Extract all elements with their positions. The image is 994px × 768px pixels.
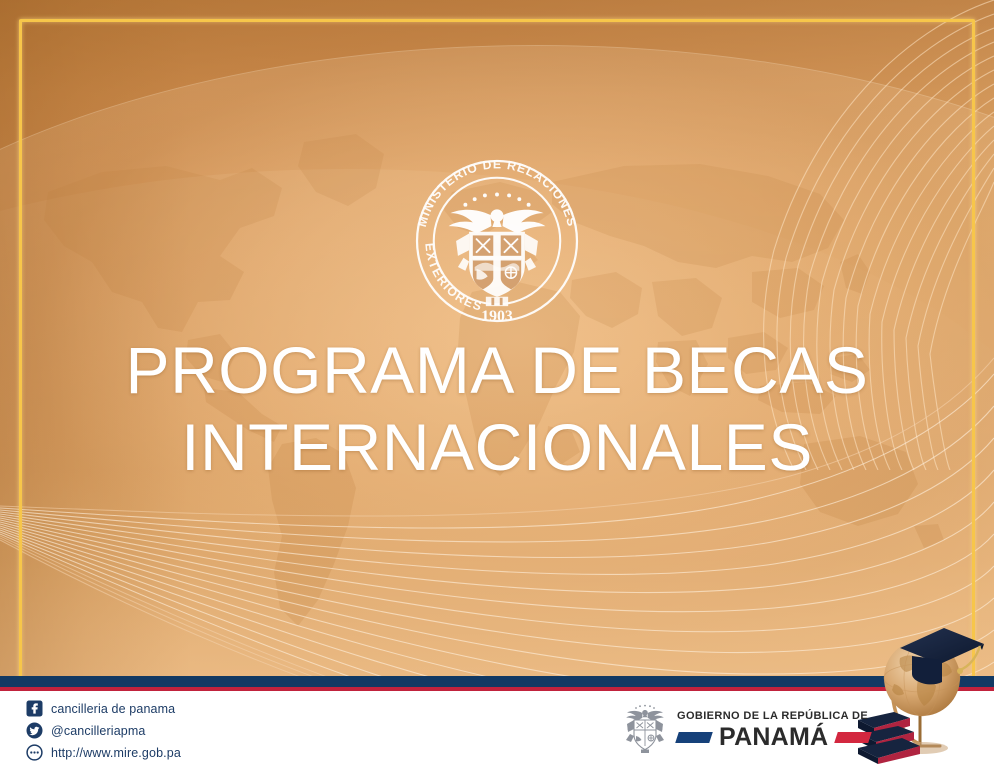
- globe-graduation-cap-books-graphic: [856, 600, 988, 766]
- social-link-twitter[interactable]: @cancilleriapma: [26, 720, 181, 741]
- website-label: http://www.mire.gob.pa: [51, 746, 181, 760]
- government-logo: GOBIERNO DE LA REPÚBLICA DE PANAMÁ: [622, 702, 870, 754]
- government-logo-line2: PANAMÁ: [677, 725, 870, 750]
- facebook-label: cancilleria de panama: [51, 702, 175, 716]
- social-link-facebook[interactable]: cancilleria de panama: [26, 698, 181, 719]
- graduation-cap: [900, 628, 984, 684]
- social-links: cancilleria de panama @cancilleriapma: [26, 698, 181, 764]
- website-icon: [26, 744, 43, 761]
- government-logo-panama: PANAMÁ: [719, 725, 828, 750]
- navy-stripe: [0, 676, 994, 687]
- government-logo-text: GOBIERNO DE LA REPÚBLICA DE PANAMÁ: [677, 706, 870, 750]
- poster-canvas: MINISTERIO DE RELACIONES EXTERIORES: [0, 0, 994, 768]
- seal-year: 1903: [481, 308, 513, 325]
- government-logo-line1: GOBIERNO DE LA REPÚBLICA DE: [677, 710, 868, 722]
- red-stripe: [0, 687, 994, 691]
- social-link-website[interactable]: http://www.mire.gob.pa: [26, 742, 181, 763]
- twitter-label: @cancilleriapma: [51, 724, 145, 738]
- flag-bar-blue: [675, 732, 713, 743]
- ministry-seal: MINISTERIO DE RELACIONES EXTERIORES: [404, 148, 590, 334]
- flag-bar-red: [835, 732, 873, 743]
- twitter-icon: [26, 722, 43, 739]
- facebook-icon: [26, 700, 43, 717]
- panama-coat-of-arms-icon: [622, 702, 668, 754]
